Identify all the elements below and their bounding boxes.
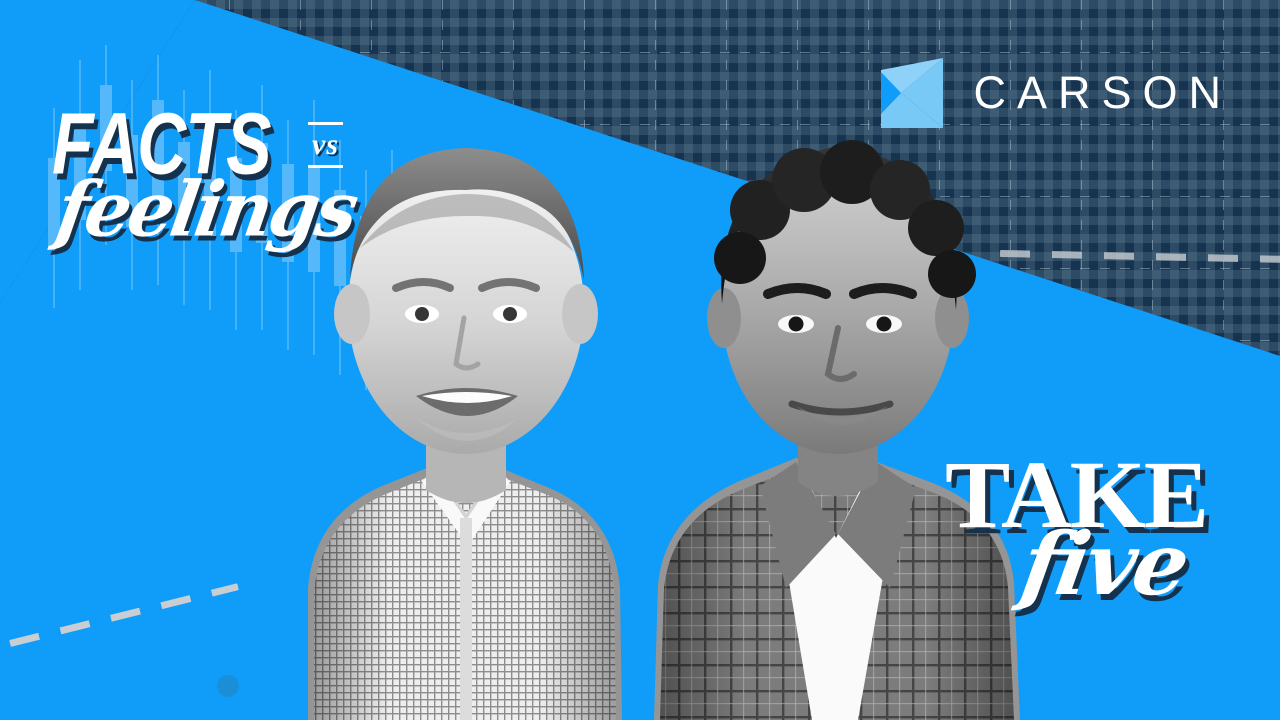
facts-vs-feelings-logo: FACTS vs feelings xyxy=(52,104,402,264)
carson-wordmark: CARSON xyxy=(973,67,1232,119)
host-portrait-right xyxy=(600,118,1070,720)
carson-chevron-logo-icon xyxy=(881,58,943,128)
logo-text-five: five xyxy=(1015,514,1193,615)
podcast-cover-art: FACTS vs feelings TAKE five CARSON xyxy=(0,0,1280,720)
logo-text-feelings: feelings xyxy=(51,164,362,253)
logo-text-vs: vs xyxy=(308,122,343,168)
carson-brand-lockup: CARSON xyxy=(881,58,1232,128)
take-five-logo: TAKE five xyxy=(945,452,1245,622)
